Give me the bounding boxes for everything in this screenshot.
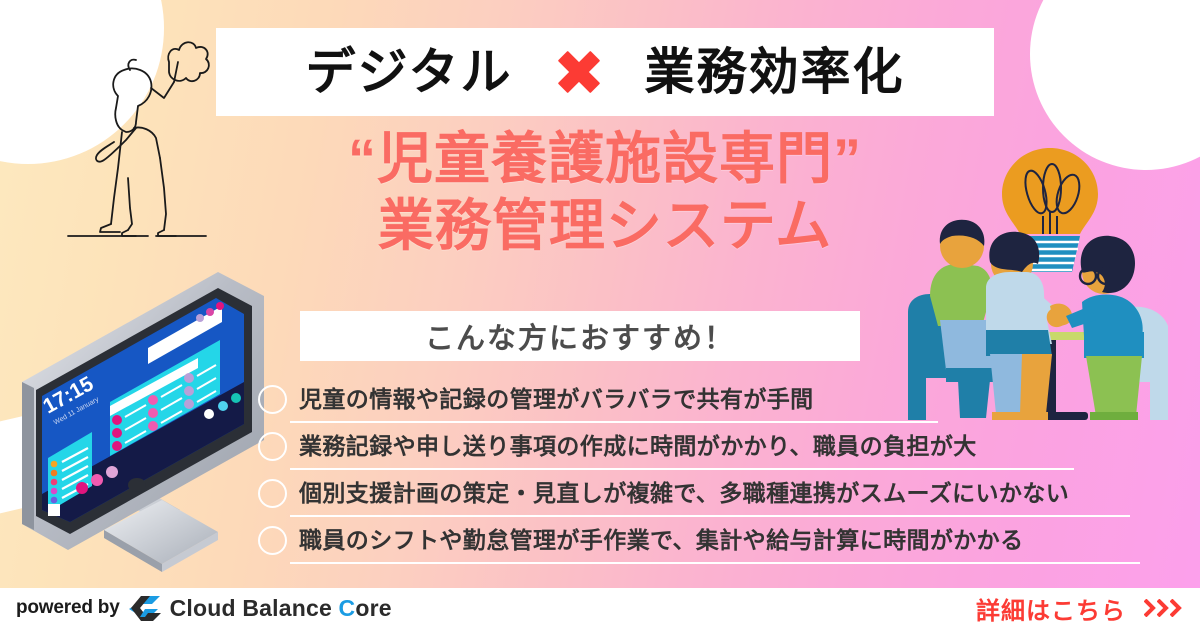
circle-outline-icon xyxy=(258,479,287,508)
list-item-label: 職員のシフトや勤怠管理が手作業で、集計や給与計算に時間がかかる xyxy=(299,529,1023,552)
keyword-digital: デジタル xyxy=(306,47,513,97)
promotional-banner: 17:15 Wed 11 January xyxy=(0,0,1200,628)
brand-name-accent: C xyxy=(339,595,356,621)
brand-name-part-3: ore xyxy=(355,595,391,621)
list-item-label: 児童の情報や記録の管理がバラバラで共有が手間 xyxy=(299,388,814,411)
circle-outline-icon xyxy=(258,432,287,461)
list-item: 業務記録や申し送り事項の作成に時間がかかり、職員の負担が大 xyxy=(258,423,1148,470)
headline-line-1: “児童養護施設専門” xyxy=(216,126,994,193)
brand-lockup: powered by Cloud Balance Core xyxy=(16,595,392,622)
triple-chevron-right-icon[interactable] xyxy=(1144,599,1182,617)
keyword-efficiency: 業務効率化 xyxy=(645,47,905,97)
circle-outline-icon xyxy=(258,526,287,555)
recommendation-label: こんな方におすすめ！ xyxy=(425,315,735,357)
page-title: “児童養護施設専門” 業務管理システム xyxy=(216,126,994,259)
headline-line-2: 業務管理システム xyxy=(216,193,994,260)
list-item: 職員のシフトや勤怠管理が手作業で、集計や給与計算に時間がかかる xyxy=(258,517,1148,564)
list-item-label: 個別支援計画の策定・見直しが複雑で、多職種連携がスムーズにいかない xyxy=(299,482,1069,505)
brand-name-part-2: ce xyxy=(306,595,339,621)
brand-name: Cloud Balance Core xyxy=(170,595,392,622)
recommendation-banner: こんな方におすすめ！ xyxy=(300,311,860,361)
cloud-balance-core-logo-icon xyxy=(128,595,162,622)
footer-bar: powered by Cloud Balance Core 詳細はこちら xyxy=(0,588,1200,628)
list-divider xyxy=(290,562,1140,564)
child-with-pinwheel-line-art xyxy=(56,28,236,260)
cta-label[interactable]: 詳細はこちら xyxy=(976,591,1126,626)
powered-by-label: powered by xyxy=(16,597,120,619)
brand-name-part-1: Cloud Balan xyxy=(170,595,306,621)
circle-outline-icon xyxy=(258,385,287,414)
top-keyword-banner: デジタル 業務効率化 xyxy=(216,28,994,116)
list-item: 個別支援計画の策定・見直しが複雑で、多職種連携がスムーズにいかない xyxy=(258,470,1148,517)
list-item: 児童の情報や記録の管理がバラバラで共有が手間 xyxy=(258,376,1148,423)
list-item-label: 業務記録や申し送り事項の作成に時間がかかり、職員の負担が大 xyxy=(299,435,977,458)
pain-point-list: 児童の情報や記録の管理がバラバラで共有が手間 業務記録や申し送り事項の作成に時間… xyxy=(258,376,1148,564)
x-mark-icon xyxy=(557,50,601,94)
cta-link[interactable]: 詳細はこちら xyxy=(976,591,1182,626)
isometric-desktop-monitor-illustration: 17:15 Wed 11 January xyxy=(12,272,282,582)
